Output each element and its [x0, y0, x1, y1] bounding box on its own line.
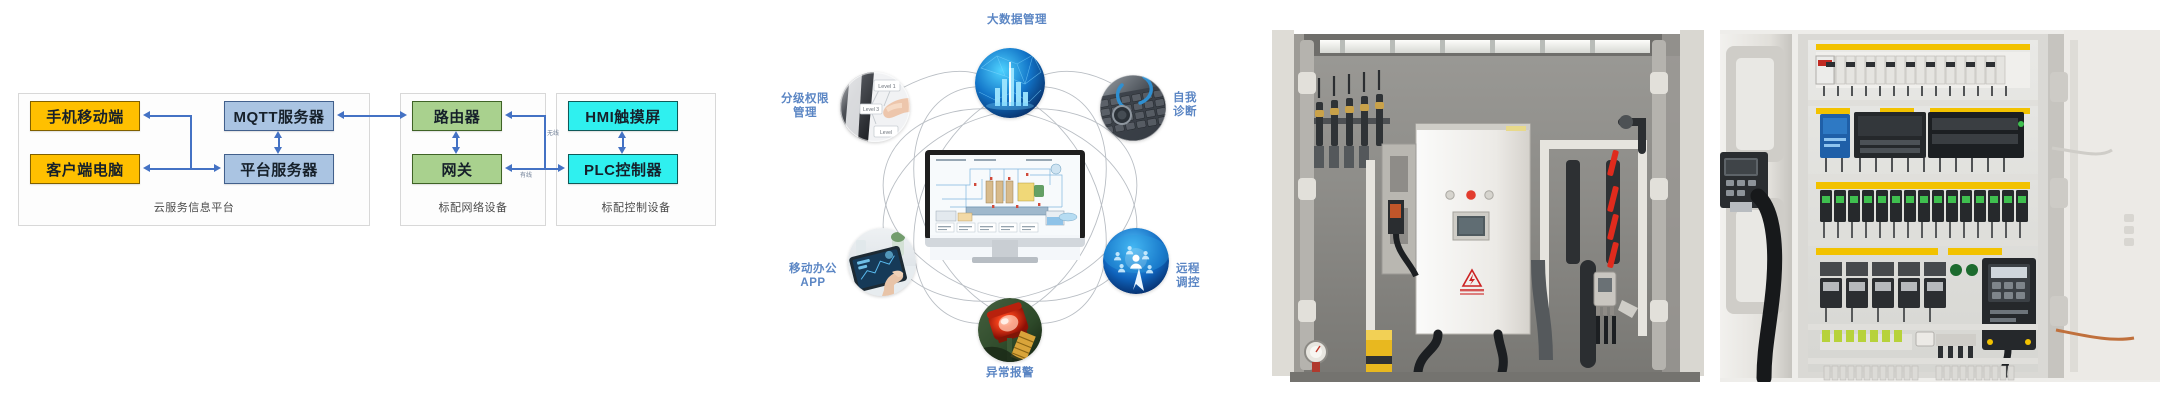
hub-node-mobileapp[interactable] [848, 228, 916, 296]
connector-mqtt-router [344, 115, 402, 117]
level-access-hand-icon: Level 1 Level 3 Level [840, 72, 910, 142]
connector-mobile-in [150, 115, 192, 117]
hub-node-selfdiag[interactable] [1100, 75, 1166, 141]
node-mqtt-server[interactable]: MQTT服务器 [224, 101, 334, 131]
group-label-cloud: 云服务信息平台 [18, 199, 370, 215]
hub-label-bigdata: 大数据管理 [967, 13, 1067, 27]
hub-label-mobileapp: 移动办公 APP [776, 262, 850, 291]
connector-wireless-riser [544, 115, 546, 169]
connector-riser-to-platform [190, 168, 216, 170]
stethoscope-laptop-icon [1100, 75, 1166, 141]
arrow-to-platform [214, 164, 221, 172]
photo-plc-control-panel[interactable] [1720, 0, 2160, 400]
node-hmi-touchscreen[interactable]: HMI触摸屏 [568, 101, 678, 131]
scada-monitor[interactable] [925, 150, 1085, 265]
arrow-plc-down [618, 147, 626, 154]
node-client-pc[interactable]: 客户端电脑 [30, 154, 140, 184]
badge-level: Level [880, 130, 892, 136]
iot-feature-hub-graphic: 大数据管理 [760, 0, 1260, 400]
monitor-stand-base [972, 257, 1038, 263]
hub-node-permission[interactable]: Level 1 Level 3 Level [840, 72, 910, 142]
node-plc-controller[interactable]: PLC控制器 [568, 154, 678, 184]
photo-outdoor-control-cabinet[interactable] [1270, 0, 1720, 400]
hub-label-alarm: 异常报警 [960, 366, 1060, 380]
edge-note-wired: 有线 [520, 170, 532, 179]
arrow-hmi-up [618, 131, 626, 138]
hub-node-remote[interactable] [1103, 228, 1169, 294]
monitor-stand-neck [992, 240, 1018, 258]
hub-node-bigdata[interactable] [975, 48, 1045, 118]
node-router[interactable]: 路由器 [412, 101, 502, 131]
edge-note-wireless: 无线 [547, 128, 559, 137]
arrow-gateway-down [452, 147, 460, 154]
badge-level-1: Level 1 [878, 84, 895, 90]
arrow-to-mobile [143, 111, 150, 119]
arrow-to-gateway [505, 164, 512, 172]
arrow-router-wireless [505, 111, 512, 119]
arrow-mqtt-up [274, 131, 282, 138]
arrow-to-router [400, 111, 407, 119]
hub-label-selfdiag: 自我 诊断 [1173, 91, 1233, 120]
arrow-to-mqtt [337, 111, 344, 119]
node-gateway[interactable]: 网关 [412, 154, 502, 184]
group-label-control: 标配控制设备 [556, 199, 716, 215]
hub-node-alarm[interactable] [978, 298, 1042, 362]
process-flow-diagram [930, 155, 1080, 235]
alarm-beacon-icon [978, 298, 1042, 362]
hub-label-permission: 分级权限 管理 [768, 92, 842, 121]
badge-level-3: Level 3 [863, 107, 879, 113]
hub-label-remote: 远程 调控 [1176, 262, 1236, 291]
connector-router-wireless-in [512, 115, 546, 117]
globe-users-icon [1103, 228, 1169, 294]
connector-riser-to-client [150, 168, 192, 170]
arrow-to-client-pc [143, 164, 150, 172]
group-label-network: 标配网络设备 [400, 199, 546, 215]
screenshot-canvas: 云服务信息平台 标配网络设备 标配控制设备 手机移动端 MQTT服务器 路由器 … [0, 0, 2160, 400]
system-architecture-diagram: 云服务信息平台 标配网络设备 标配控制设备 手机移动端 MQTT服务器 路由器 … [0, 0, 760, 400]
outdoor-cabinet-image [1270, 0, 1720, 400]
bar-chart-network-icon [975, 48, 1045, 118]
connector-riser-left [190, 115, 192, 169]
arrow-to-plc [558, 164, 565, 172]
tablet-hand-icon [848, 228, 916, 296]
node-platform-server[interactable]: 平台服务器 [224, 154, 334, 184]
plc-panel-image [1720, 0, 2160, 400]
node-mobile-client[interactable]: 手机移动端 [30, 101, 140, 131]
arrow-router-up [452, 131, 460, 138]
arrow-platform-down [274, 147, 282, 154]
